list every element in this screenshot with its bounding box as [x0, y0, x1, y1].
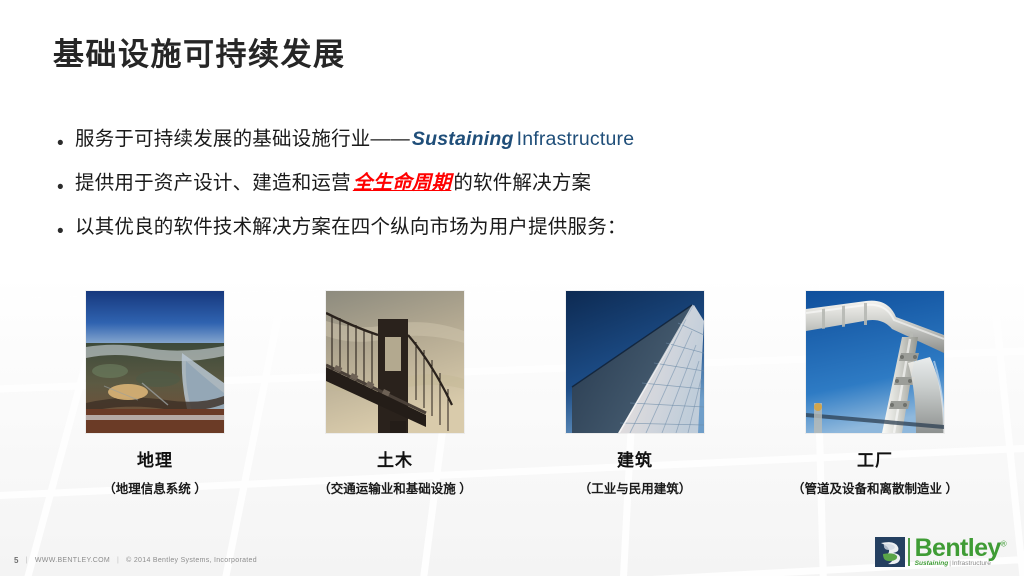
bullet-marker-icon: •: [57, 216, 75, 241]
list-item: • 提供用于资产设计、建造和运营全生命周期的软件解决方案: [57, 172, 634, 197]
logo-wordmark: Bentley® Sustaining|Infrastructure: [915, 537, 1006, 568]
footer-separator: |: [117, 557, 119, 564]
market-card-title: 土木: [377, 446, 413, 471]
bullet-marker-icon: •: [57, 172, 75, 197]
footer-website-link[interactable]: WWW.BENTLEY.COM: [35, 557, 110, 564]
aerial-landscape-photo-icon: [86, 291, 224, 433]
industrial-pipes-photo-icon: [806, 291, 944, 433]
bentley-b-mark-icon: [875, 537, 905, 567]
logo-divider: [908, 538, 910, 566]
market-card-building: 建筑 （工业与民用建筑）: [535, 291, 735, 497]
slide-canvas: 基础设施可持续发展 • 服务于可持续发展的基础设施行业——SustainingI…: [0, 0, 1024, 576]
market-card-title: 建筑: [617, 446, 653, 471]
page-number: 5: [14, 556, 19, 565]
market-card-geospatial: 地理 （地理信息系统 ）: [55, 291, 255, 497]
logo-tagline: Sustaining|Infrastructure: [915, 561, 1006, 568]
market-card-row: 地理 （地理信息系统 ）: [55, 291, 975, 497]
bullet-lead-text: 服务于可持续发展的基础设施行业——: [75, 128, 410, 150]
bullet-emphasis-sustaining: Sustaining: [410, 128, 514, 150]
footer-separator: |: [26, 557, 28, 564]
logo-brand-name: Bentley®: [915, 537, 1006, 561]
market-card-plant: 工厂 （管道及设备和离散制造业 ）: [775, 291, 975, 497]
suspension-bridge-photo-icon: [326, 291, 464, 433]
page-title: 基础设施可持续发展: [53, 29, 346, 74]
registered-mark-icon: ®: [1001, 539, 1006, 548]
bullet-list: • 服务于可持续发展的基础设施行业——SustainingInfrastruct…: [57, 128, 634, 260]
market-card-civil: 土木 （交通运输业和基础设施 ）: [295, 291, 495, 497]
bullet-text: 提供用于资产设计、建造和运营全生命周期的软件解决方案: [75, 172, 591, 194]
bullet-trail-text: 的软件解决方案: [453, 172, 591, 194]
bullet-text: 服务于可持续发展的基础设施行业——SustainingInfrastructur…: [75, 128, 634, 150]
skyscraper-photo-icon: [566, 291, 704, 433]
footer-copyright: © 2014 Bentley Systems, Incorporated: [126, 557, 257, 564]
footer-bar: 5 | WWW.BENTLEY.COM | © 2014 Bentley Sys…: [14, 556, 257, 565]
market-card-subtitle: （工业与民用建筑）: [579, 478, 692, 497]
bentley-logo: Bentley® Sustaining|Infrastructure: [875, 537, 1006, 568]
list-item: • 以其优良的软件技术解决方案在四个纵向市场为用户提供服务：: [57, 216, 634, 241]
bullet-text: 以其优良的软件技术解决方案在四个纵向市场为用户提供服务：: [75, 216, 627, 238]
market-card-subtitle: （地理信息系统 ）: [103, 478, 206, 497]
list-item: • 服务于可持续发展的基础设施行业——SustainingInfrastruct…: [57, 128, 634, 153]
market-card-subtitle: （交通运输业和基础设施 ）: [318, 478, 471, 497]
bullet-marker-icon: •: [57, 128, 75, 153]
bullet-trail-infrastructure: Infrastructure: [514, 128, 635, 150]
bullet-emphasis-lifecycle: 全生命周期: [351, 172, 454, 194]
market-card-title: 地理: [137, 446, 173, 471]
bullet-lead-text: 提供用于资产设计、建造和运营: [75, 172, 351, 194]
market-card-subtitle: （管道及设备和离散制造业 ）: [792, 478, 958, 497]
logo-brand-text: Bentley: [915, 534, 1001, 562]
market-card-title: 工厂: [857, 446, 893, 471]
